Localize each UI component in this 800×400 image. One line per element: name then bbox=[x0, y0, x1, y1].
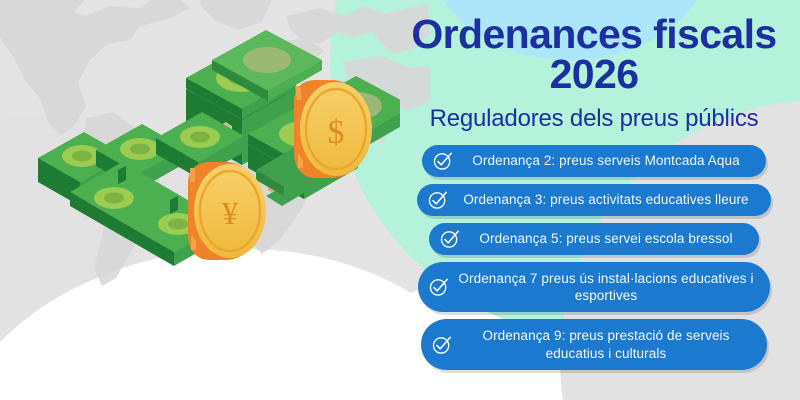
svg-text:¥: ¥ bbox=[222, 195, 238, 231]
list-item[interactable]: Ordenança 3: preus activitats educatives… bbox=[417, 184, 771, 216]
check-circle-icon bbox=[439, 228, 461, 250]
list-item-label: Ordenança 3: preus activitats educatives… bbox=[455, 191, 757, 208]
list-item-label: Ordenança 9: preus prestació de serveis … bbox=[459, 327, 753, 362]
ordinance-banner: $ ¥ Ordenances fiscals 2026 Reguladores … bbox=[0, 0, 800, 400]
money-illustration: $ ¥ bbox=[10, 10, 400, 310]
list-item[interactable]: Ordenança 2: preus serveis Montcada Aqua bbox=[422, 145, 766, 177]
page-subtitle: Reguladores dels preus públics bbox=[430, 106, 759, 132]
title-line-2: 2026 bbox=[394, 54, 794, 94]
title-line-1: Ordenances fiscals bbox=[411, 11, 776, 57]
list-item-label: Ordenança 2: preus serveis Montcada Aqua bbox=[460, 152, 752, 169]
content-panel: Ordenances fiscals 2026 Reguladores dels… bbox=[388, 0, 800, 400]
check-circle-icon bbox=[428, 276, 450, 298]
gold-coin-dollar-icon: $ bbox=[294, 80, 372, 178]
ordinance-list: Ordenança 2: preus serveis Montcada Aqua… bbox=[388, 145, 800, 370]
list-item[interactable]: Ordenança 5: preus servei escola bressol bbox=[429, 223, 759, 255]
check-circle-icon bbox=[431, 334, 453, 356]
check-circle-icon bbox=[432, 150, 454, 172]
svg-text:$: $ bbox=[328, 114, 345, 151]
list-item[interactable]: Ordenança 7 preus ús instal·lacions educ… bbox=[418, 262, 770, 313]
page-title: Ordenances fiscals 2026 bbox=[394, 14, 794, 94]
gold-coin-yen-icon: ¥ bbox=[188, 162, 266, 260]
list-item-label: Ordenança 7 preus ús instal·lacions educ… bbox=[456, 270, 756, 305]
list-item-label: Ordenança 5: preus servei escola bressol bbox=[467, 230, 745, 247]
check-circle-icon bbox=[427, 189, 449, 211]
list-item[interactable]: Ordenança 9: preus prestació de serveis … bbox=[421, 319, 767, 370]
